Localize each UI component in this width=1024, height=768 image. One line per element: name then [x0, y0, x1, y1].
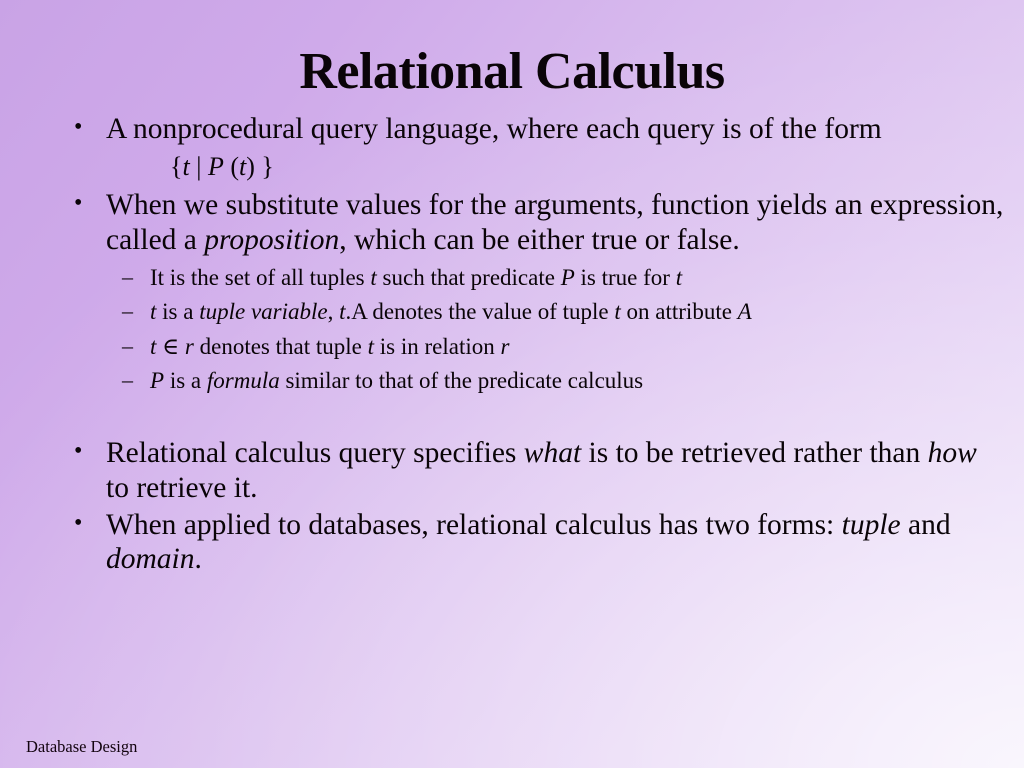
- sub-bullet-list: – It is the set of all tuples t such tha…: [60, 264, 1004, 395]
- bullet-marker-dash: –: [122, 333, 133, 359]
- sub-bullet-text: t is a tuple variable, t.A denotes the v…: [150, 299, 752, 324]
- bullet-text: When we substitute values for the argume…: [106, 189, 1003, 256]
- formula-text: {t | P (t) }: [170, 152, 274, 181]
- bullet-marker-dash: –: [122, 367, 133, 393]
- sub-bullet-item: – t is a tuple variable, t.A denotes the…: [60, 298, 1004, 326]
- slide-footer: Database Design: [26, 737, 137, 757]
- bullet-item: • Relational calculus query specifies wh…: [60, 436, 1004, 506]
- bullet-marker-dash: –: [122, 298, 133, 324]
- sub-bullet-text: t ∈ r denotes that tuple t is in relatio…: [150, 334, 509, 359]
- bullet-item: • When applied to databases, relational …: [60, 508, 1004, 578]
- bullet-marker-dot: •: [74, 112, 82, 144]
- spacer: [60, 402, 1004, 436]
- bullet-marker-dot: •: [74, 508, 82, 540]
- sub-bullet-text: P is a formula similar to that of the pr…: [150, 368, 643, 393]
- sub-bullet-text: It is the set of all tuples t such that …: [150, 265, 682, 290]
- page-title: Relational Calculus: [0, 43, 1024, 101]
- bullet-marker-dash: –: [122, 264, 133, 290]
- sub-bullet-item: – P is a formula similar to that of the …: [60, 367, 1004, 395]
- sub-bullet-item: – t ∈ r denotes that tuple t is in relat…: [60, 333, 1004, 361]
- formula-expression: {t | P (t) }: [60, 151, 1004, 182]
- bullet-text: A nonprocedural query language, where ea…: [106, 113, 882, 145]
- sub-bullet-item: – It is the set of all tuples t such tha…: [60, 264, 1004, 292]
- bullet-text: When applied to databases, relational ca…: [106, 509, 951, 576]
- slide-canvas: Relational Calculus • A nonprocedural qu…: [0, 0, 1024, 768]
- bullet-item: • A nonprocedural query language, where …: [60, 112, 1004, 147]
- bullet-item: • When we substitute values for the argu…: [60, 188, 1004, 258]
- bullet-marker-dot: •: [74, 188, 82, 220]
- bullet-text: Relational calculus query specifies what…: [106, 437, 977, 504]
- slide-body: • A nonprocedural query language, where …: [60, 112, 1004, 579]
- bullet-marker-dot: •: [74, 436, 82, 468]
